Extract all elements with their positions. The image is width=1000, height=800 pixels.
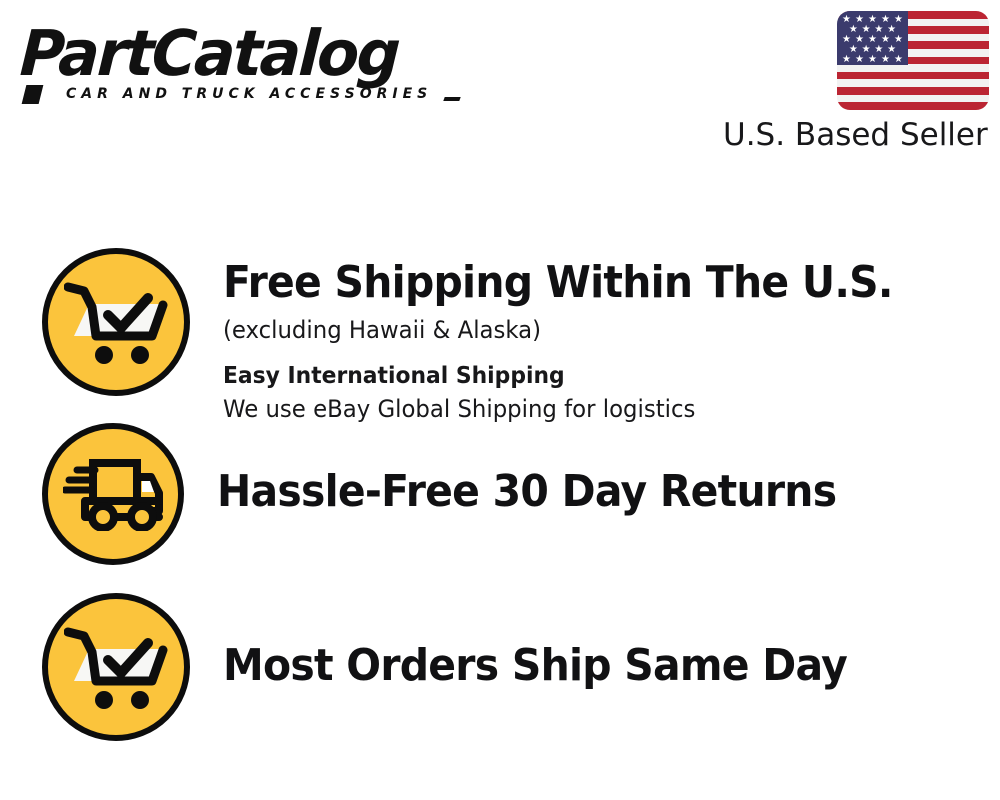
brand-logo: PartCatalog CAR AND TRUCK ACCESSORIES: [22, 18, 492, 113]
feature-headline: Hassle-Free 30 Day Returns: [217, 467, 836, 517]
us-flag-icon: ★★★★★ ★★★★ ★★★★★ ★★★★ ★★★★★: [837, 11, 989, 110]
delivery-truck-icon: [42, 423, 184, 565]
feature-text-returns: Hassle-Free 30 Day Returns: [217, 423, 883, 517]
logo-accent-dash: [443, 97, 460, 101]
logo-accent-bar: [22, 85, 44, 104]
brand-tagline: CAR AND TRUCK ACCESSORIES: [66, 86, 432, 102]
promo-banner: PartCatalog CAR AND TRUCK ACCESSORIES ★★…: [0, 0, 1000, 800]
shopping-cart-check-icon: [42, 248, 190, 396]
shopping-cart-check-icon: [42, 593, 190, 741]
feature-headline: Most Orders Ship Same Day: [223, 641, 847, 691]
feature-row-free-shipping: Free Shipping Within The U.S. (excluding…: [42, 248, 943, 425]
feature-subheading: Easy International Shipping: [223, 360, 907, 392]
brand-wordmark: PartCatalog: [18, 18, 478, 90]
feature-row-returns: Hassle-Free 30 Day Returns: [42, 423, 883, 565]
feature-subtext: We use eBay Global Shipping for logistic…: [223, 393, 907, 425]
feature-text-free-shipping: Free Shipping Within The U.S. (excluding…: [223, 248, 943, 425]
brand-tagline-row: CAR AND TRUCK ACCESSORIES: [22, 84, 492, 106]
flag-canton: ★★★★★ ★★★★ ★★★★★ ★★★★ ★★★★★: [837, 11, 908, 65]
feature-note: (excluding Hawaii & Alaska): [223, 314, 907, 346]
feature-text-same-day: Most Orders Ship Same Day: [223, 593, 894, 691]
feature-headline: Free Shipping Within The U.S.: [223, 258, 893, 308]
us-based-seller-label: U.S. Based Seller: [723, 116, 985, 154]
feature-row-same-day: Most Orders Ship Same Day: [42, 593, 894, 741]
